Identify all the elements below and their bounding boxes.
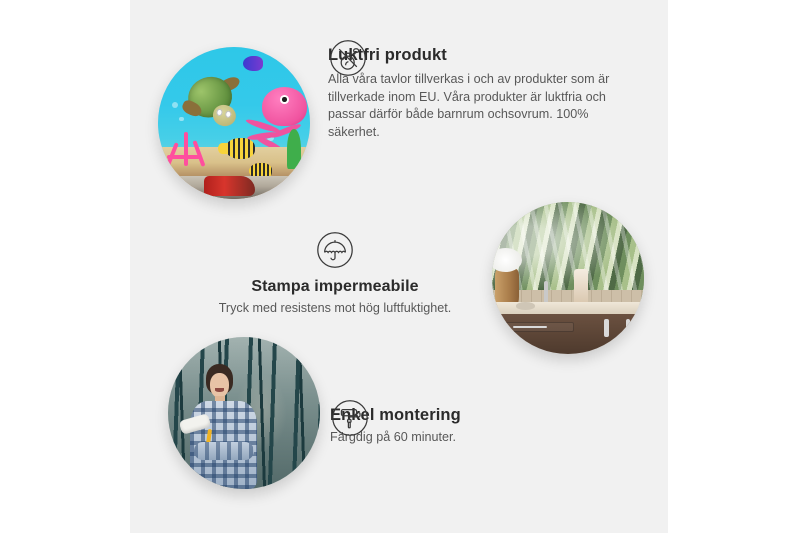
feature-odour-free: Luktfri produkt Alla våra tavlor tillver… (328, 38, 628, 141)
bathroom-scene (492, 202, 644, 354)
bubble-icon (172, 102, 178, 108)
door-handle (626, 319, 631, 336)
octopus-eye (280, 95, 289, 104)
underwater-kids-mural-photo (158, 47, 310, 199)
person-arms (194, 442, 254, 461)
feature-title: Luktfri produkt (328, 46, 628, 65)
feature-body: Tryck med resistens mot hög luftfuktighe… (200, 301, 470, 315)
forest-mural-installer-photo (168, 337, 320, 489)
underwater-scene (158, 47, 310, 199)
feature-waterproof: Stampa impermeabile Tryck med resistens … (200, 230, 470, 315)
striped-fish-icon (225, 138, 255, 159)
drawer-handle (513, 326, 546, 328)
feature-body: Färgdig på 60 minuter. (330, 430, 610, 444)
forest-scene (168, 337, 320, 489)
bottle-icon (574, 269, 588, 305)
feature-easy-mounting: Enkel montering Färgdig på 60 minuter. (330, 398, 610, 444)
turtle-icon (182, 74, 249, 135)
soap-dish-icon (516, 302, 534, 310)
door-handle (604, 319, 609, 336)
feature-title: Enkel montering (330, 406, 610, 425)
feature-body: Alla våra tavlor tillverkas i och av pro… (328, 71, 628, 141)
person-face (210, 373, 229, 398)
blue-fish-icon (243, 56, 263, 71)
no-odour-perfume-bottle-icon (328, 38, 368, 78)
product-feature-infographic: Luktfri produkt Alla våra tavlor tillver… (0, 0, 800, 533)
vanity-cabinet (492, 314, 644, 354)
bathroom-vanity-mural-photo (492, 202, 644, 354)
paint-roller-icon (330, 398, 370, 438)
red-toy-object (204, 176, 256, 196)
coral-icon (164, 132, 210, 178)
octopus-head (262, 87, 307, 126)
person-smile (215, 388, 224, 392)
installer-person (183, 364, 271, 489)
umbrella-icon (315, 230, 355, 270)
feature-title: Stampa impermeabile (200, 278, 470, 296)
seaweed-icon (287, 129, 301, 169)
